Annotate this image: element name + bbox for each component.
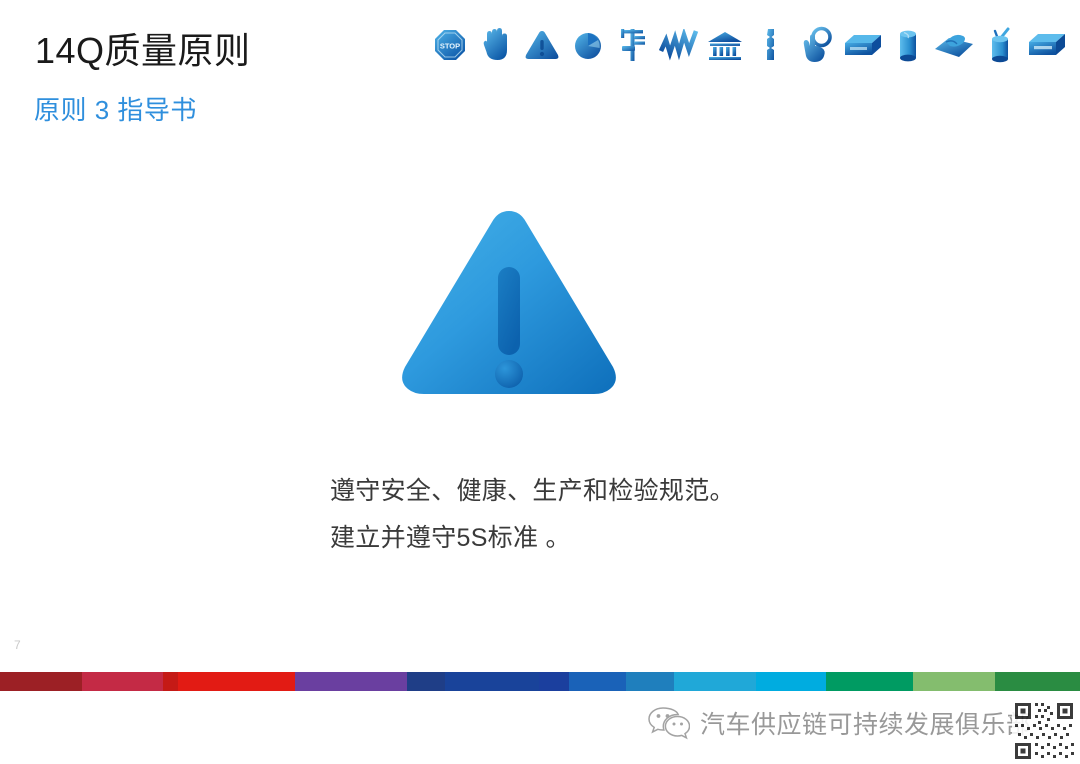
color-bar-segment-8 bbox=[569, 672, 626, 691]
principle-icon-strip: STOP bbox=[428, 14, 1068, 76]
stop-sign-icon: STOP bbox=[428, 19, 472, 71]
page-subtitle: 原则 3 指导书 bbox=[34, 90, 197, 127]
person-figure-icon bbox=[749, 19, 793, 71]
wechat-logo-icon bbox=[648, 705, 690, 741]
pie-chart-icon bbox=[566, 19, 610, 71]
bank-building-icon bbox=[703, 19, 747, 71]
wechat-watermark: 汽车供应链可持续发展俱乐部 bbox=[648, 700, 1032, 746]
color-bar-segment-3 bbox=[178, 672, 294, 691]
cup-tools-icon bbox=[978, 19, 1022, 71]
zigzag-chart-icon bbox=[657, 19, 701, 71]
stop-hand-icon bbox=[474, 19, 518, 71]
caliper-icon bbox=[611, 19, 655, 71]
description-line-2: 建立并遵守5S标准 。 bbox=[330, 515, 930, 562]
drawer-tray-icon bbox=[1024, 19, 1068, 71]
box-container-icon bbox=[841, 19, 885, 71]
warning-triangle-large-icon bbox=[398, 205, 620, 400]
color-bar-segment-0 bbox=[0, 672, 82, 691]
color-bar-segment-6 bbox=[445, 672, 539, 691]
wechat-account-name: 汽车供应链可持续发展俱乐部 bbox=[700, 705, 1032, 741]
color-bar-segment-10 bbox=[674, 672, 756, 691]
hand-magnifier-icon bbox=[795, 19, 839, 71]
color-bar-segment-5 bbox=[407, 672, 445, 691]
qr-code-icon bbox=[1012, 700, 1076, 762]
page-number: 7 bbox=[14, 638, 21, 652]
principle-description: 遵守安全、健康、生产和检验规范。 建立并遵守5S标准 。 bbox=[330, 468, 930, 562]
description-line-1: 遵守安全、健康、生产和检验规范。 bbox=[330, 468, 930, 515]
color-bar-segment-14 bbox=[995, 672, 1080, 691]
svg-text:STOP: STOP bbox=[440, 42, 460, 51]
folded-sheet-icon bbox=[932, 19, 976, 71]
warning-triangle-icon bbox=[520, 19, 564, 71]
slide-canvas: 14Q质量原则 原则 3 指导书 STOP bbox=[0, 0, 1080, 764]
color-bar-segment-7 bbox=[539, 672, 569, 691]
color-bar-segment-4 bbox=[295, 672, 408, 691]
color-bar-segment-11 bbox=[756, 672, 826, 691]
color-bar-segment-9 bbox=[626, 672, 674, 691]
cylinder-roll-icon bbox=[886, 19, 930, 71]
color-bar-segment-1 bbox=[82, 672, 163, 691]
color-bar-segment-2 bbox=[163, 672, 179, 691]
footer-color-bar bbox=[0, 672, 1080, 691]
color-bar-segment-12 bbox=[826, 672, 913, 691]
page-title: 14Q质量原则 bbox=[35, 22, 251, 74]
color-bar-segment-13 bbox=[913, 672, 995, 691]
